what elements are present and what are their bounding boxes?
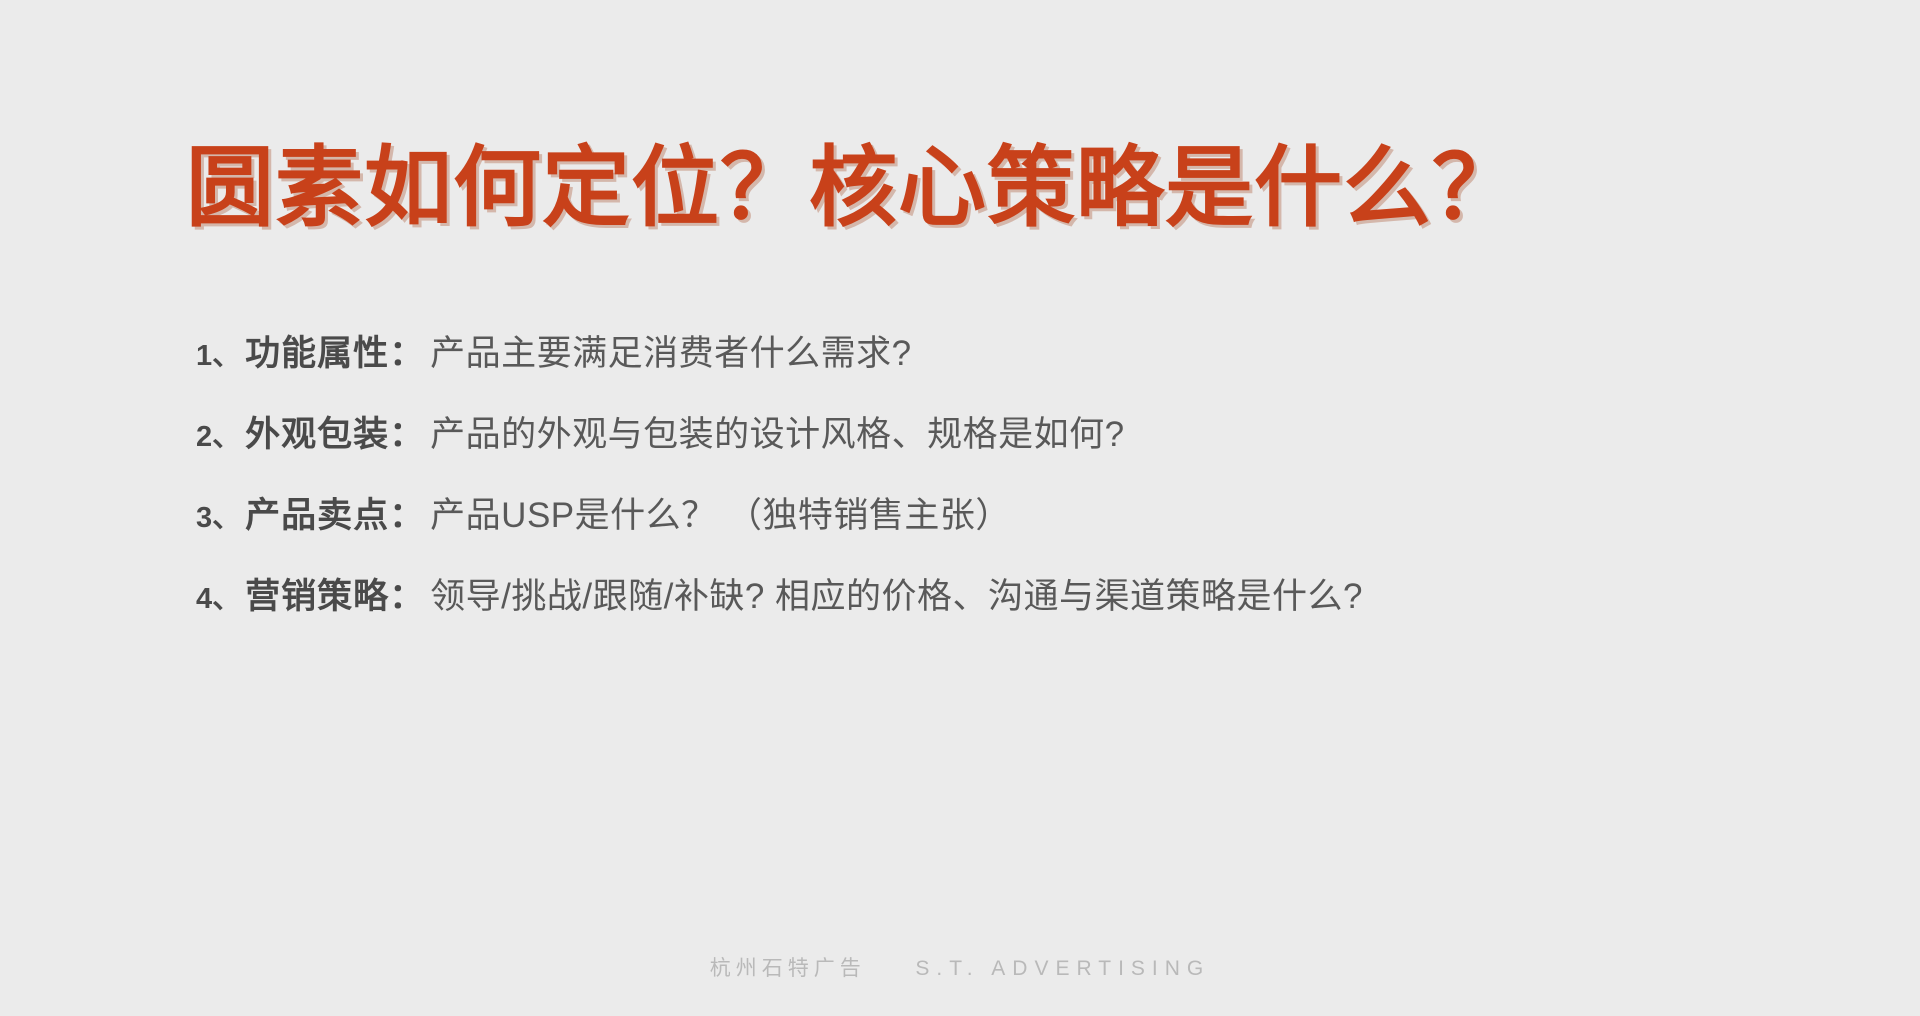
list-item: 4、 营销策略 ： 领导/挑战/跟随/补缺? 相应的价格、沟通与渠道策略是什么?	[196, 568, 1836, 619]
list-item-colon: ：	[389, 325, 424, 376]
list-item-colon: ：	[389, 487, 424, 538]
list-item-colon: ：	[389, 568, 424, 619]
list-item: 1、 功能属性 ： 产品主要满足消费者什么需求?	[196, 325, 1836, 376]
list-item-index: 2、	[196, 413, 241, 455]
content-list: 1、 功能属性 ： 产品主要满足消费者什么需求? 2、 外观包装 ： 产品的外观…	[196, 325, 1836, 649]
footer-company-cn: 杭州石特广告	[710, 957, 866, 980]
footer-company-en: S.T. ADVERTISING	[915, 957, 1210, 980]
list-item: 3、 产品卖点 ： 产品USP是什么？ （独特销售主张）	[196, 487, 1836, 538]
list-item-text: 产品USP是什么？ （独特销售主张）	[430, 487, 1011, 538]
list-item-text: 产品的外观与包装的设计风格、规格是如何?	[430, 406, 1124, 457]
list-item-colon: ：	[389, 406, 424, 457]
slide-canvas: 圆素如何定位？核心策略是什么？ 1、 功能属性 ： 产品主要满足消费者什么需求?…	[0, 0, 1920, 1016]
list-item-index: 4、	[196, 575, 241, 617]
list-item-label: 产品卖点	[245, 487, 389, 538]
list-item-label: 外观包装	[245, 406, 389, 457]
list-item-index: 3、	[196, 494, 241, 536]
page-title: 圆素如何定位？核心策略是什么？	[186, 137, 1521, 238]
list-item-index: 1、	[196, 332, 241, 374]
list-item-text: 领导/挑战/跟随/补缺? 相应的价格、沟通与渠道策略是什么?	[430, 568, 1363, 619]
slide-footer: 杭州石特广告 S.T. ADVERTISING	[0, 952, 1920, 982]
list-item-label: 功能属性	[245, 325, 389, 376]
list-item: 2、 外观包装 ： 产品的外观与包装的设计风格、规格是如何?	[196, 406, 1836, 457]
list-item-label: 营销策略	[245, 568, 389, 619]
list-item-text: 产品主要满足消费者什么需求?	[430, 325, 911, 376]
